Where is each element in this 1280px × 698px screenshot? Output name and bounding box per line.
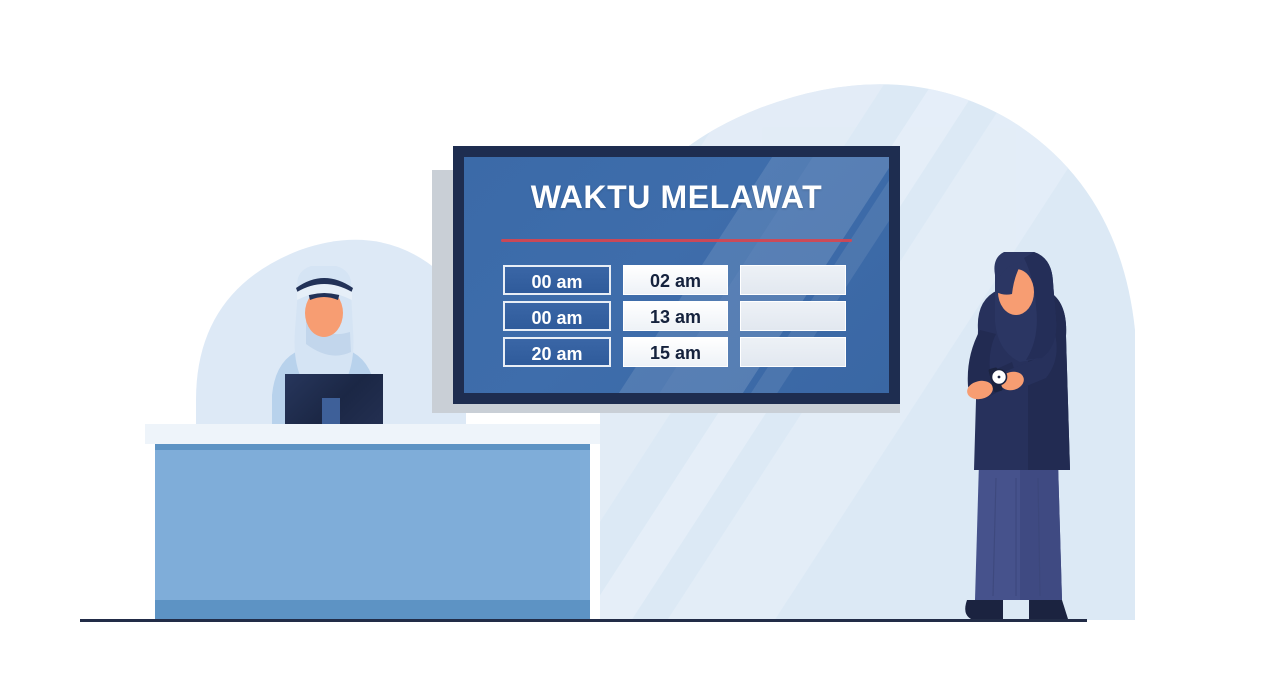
reception-desk-body — [155, 444, 590, 620]
visitor-skirt-shadow — [1020, 462, 1062, 600]
visitor-figure[interactable] — [965, 252, 1070, 619]
illustration-canvas: WAKTU MELAWAT 00 am 02 am 00 am 13 am 20… — [0, 0, 1280, 698]
reception-desk-counter — [145, 424, 600, 444]
reception-desk-top-edge — [155, 444, 590, 450]
monitor-stand — [322, 398, 340, 424]
floor-line — [80, 619, 1087, 622]
reception-desk-base-edge — [155, 600, 590, 620]
visitor-shoe-left — [965, 600, 1003, 619]
visitor-shoe-right — [1029, 600, 1068, 619]
watch-hands-pivot — [998, 376, 1001, 379]
